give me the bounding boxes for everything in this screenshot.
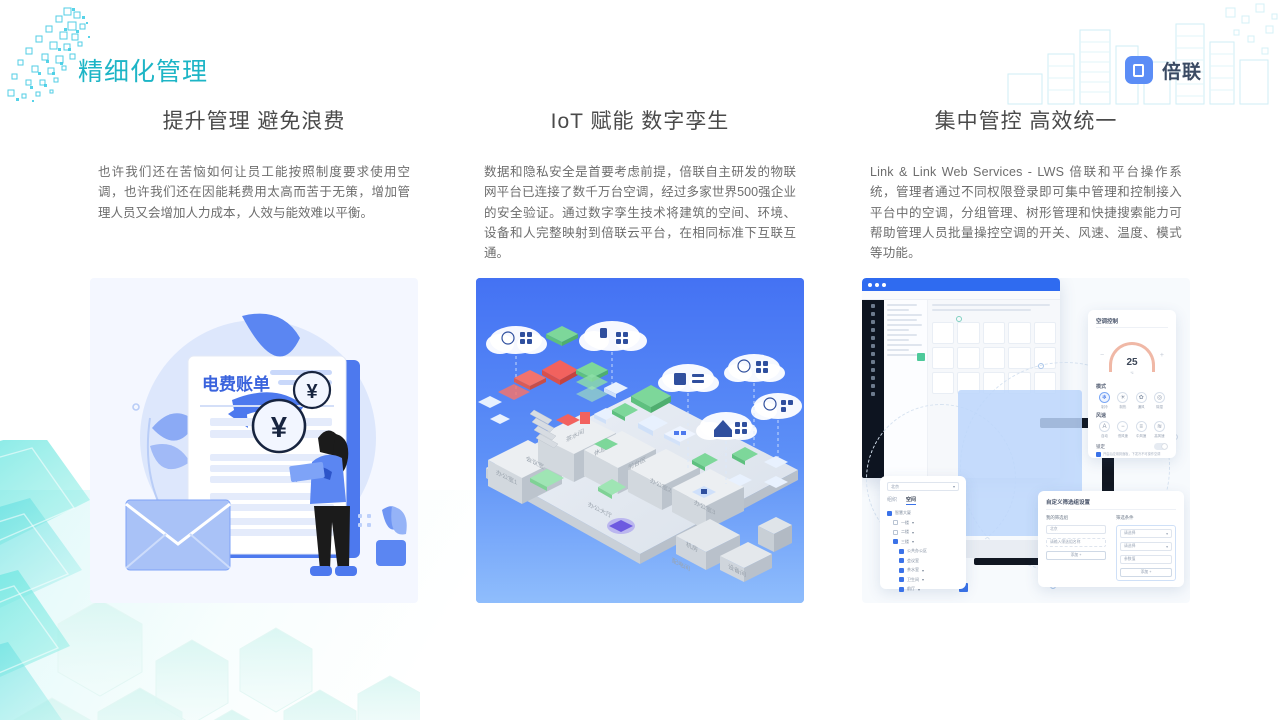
- envelope-icon: [126, 500, 230, 570]
- tree-item-label: 卫生间: [907, 577, 919, 583]
- mode-option-heat[interactable]: ☀ 制热: [1114, 392, 1131, 409]
- chevron-down-icon: ▾: [1166, 544, 1168, 549]
- browser-titlebar: [862, 278, 1060, 291]
- column-1: 提升管理 避免浪费 也许我们还在苦恼如何让员工能按照制度要求使用空调，也许我们还…: [90, 108, 418, 603]
- column-3-heading: 集中管控 高效统一: [862, 108, 1190, 162]
- column-2: IoT 赋能 数字孪生 数据和隐私安全是首要考虑前提，倍联自主研发的物联网平台已…: [476, 108, 804, 603]
- fan-low-icon: −: [1117, 421, 1128, 432]
- filter-dialog-title: 自定义筛选组设置: [1046, 498, 1176, 506]
- condition-field-select[interactable]: 请选择▾: [1120, 529, 1172, 538]
- device-card[interactable]: [957, 347, 979, 369]
- snowflake-icon: ❄: [1099, 392, 1110, 403]
- tree-item-label: 一楼: [901, 520, 909, 526]
- filter-group-name-input[interactable]: 请输入筛选组名称: [1046, 538, 1106, 547]
- fan-caption: 中风速: [1133, 433, 1150, 438]
- fan-caption: 自动: [1096, 433, 1113, 438]
- fan-high-icon: ≋: [1154, 421, 1165, 432]
- tree-item-label: 三楼: [901, 539, 909, 545]
- chevron-down-icon[interactable]: ▾: [918, 587, 920, 592]
- mode-caption: 除湿: [1151, 404, 1168, 409]
- tab-space[interactable]: 空间: [906, 496, 916, 505]
- mode-option-cool[interactable]: ❄ 制冷: [1096, 392, 1113, 409]
- tree-tabs[interactable]: 组织 空间: [887, 496, 959, 505]
- coin-currency-small: ¥: [306, 381, 318, 403]
- browser-toolbar[interactable]: [862, 291, 1060, 300]
- decor-dot: [956, 316, 962, 322]
- tree-item[interactable]: 公共办公区: [887, 548, 959, 554]
- column-1-heading: 提升管理 避免浪费: [90, 108, 418, 162]
- filter-conditions-header: 筛选条件: [1116, 515, 1176, 521]
- condition-operator-select[interactable]: 请选择▾: [1120, 542, 1172, 551]
- coin-currency-large: ¥: [271, 412, 287, 444]
- temp-decrease-button[interactable]: −: [1100, 352, 1104, 359]
- brand-mark-icon: [1125, 56, 1153, 84]
- window-dot: [868, 283, 872, 287]
- temperature-unit: ℃: [1130, 371, 1133, 375]
- fan-option-low[interactable]: − 低风速: [1114, 421, 1131, 438]
- chevron-down-icon[interactable]: ▾: [912, 530, 914, 535]
- decor-square: [917, 353, 925, 361]
- checkbox-icon[interactable]: [899, 549, 904, 554]
- chevron-down-icon: ▾: [1166, 531, 1168, 536]
- region-select[interactable]: 北京 ▾: [887, 482, 959, 491]
- device-card[interactable]: [983, 322, 1005, 344]
- checkbox-icon[interactable]: [893, 539, 898, 544]
- device-card[interactable]: [932, 372, 954, 394]
- column-1-body: 也许我们还在苦恼如何让员工能按照制度要求使用空调，也许我们还在因能耗费用太高而苦…: [90, 162, 418, 272]
- column-3-body: Link & Link Web Services - LWS 倍联和平台操作系统…: [862, 162, 1190, 272]
- filter-group-item[interactable]: 北京: [1046, 525, 1106, 534]
- column-3: 集中管控 高效统一 Link & Link Web Services - LWS…: [862, 108, 1190, 603]
- device-card[interactable]: [983, 347, 1005, 369]
- mode-option-fan[interactable]: ✿ 通风: [1133, 392, 1150, 409]
- window-dot: [875, 283, 879, 287]
- column-2-figure: 办公室1 会议室 茶水间 休息区 前台区 办公室2 办公室3 办公大厅 机房 配…: [476, 278, 804, 603]
- temperature-value: 25: [1126, 357, 1137, 368]
- tree-item[interactable]: 三楼▾: [887, 539, 959, 545]
- page-title: 精细化管理: [78, 52, 208, 88]
- column-1-figure: 电费账单: [90, 278, 418, 603]
- chevron-down-icon[interactable]: ▾: [922, 568, 924, 573]
- ac-panel-title: 空调控制: [1096, 317, 1168, 325]
- device-card[interactable]: [1008, 347, 1030, 369]
- tree-item-label: 茶水室: [907, 567, 919, 573]
- tree-item[interactable]: 前厅▾: [887, 586, 959, 592]
- mode-options[interactable]: ❄ 制冷 ☀ 制热 ✿ 通风 ◎ 除湿: [1096, 392, 1168, 409]
- fan-speed-options[interactable]: A 自动 − 低风速 ≡ 中风速 ≋ 高风速: [1096, 421, 1168, 438]
- mode-option-dry[interactable]: ◎ 除湿: [1151, 392, 1168, 409]
- temp-increase-button[interactable]: +: [1160, 352, 1164, 359]
- fan-caption: 高风速: [1151, 433, 1168, 438]
- mode-caption: 制冷: [1096, 404, 1113, 409]
- fan-option-auto[interactable]: A 自动: [1096, 421, 1113, 438]
- decor-dot: [1038, 363, 1044, 369]
- device-card[interactable]: [932, 347, 954, 369]
- content-columns: 提升管理 避免浪费 也许我们还在苦恼如何让员工能按照制度要求使用空调，也许我们还…: [0, 108, 1280, 603]
- tree-item[interactable]: 二楼▾: [887, 529, 959, 535]
- fan-medium-icon: ≡: [1136, 421, 1147, 432]
- add-condition-button[interactable]: 添加 +: [1120, 568, 1172, 577]
- add-filter-group-button[interactable]: 添加 +: [1046, 551, 1106, 560]
- chevron-down-icon[interactable]: ▾: [922, 577, 924, 582]
- device-card[interactable]: [1034, 322, 1056, 344]
- tree-item[interactable]: 一楼▾: [887, 520, 959, 526]
- slide-root: 精细化管理 倍联 提升管理 避免浪费 也许我们还在苦恼如何让员工能按照制度要求使…: [0, 0, 1280, 720]
- brand-name: 倍联: [1162, 57, 1202, 84]
- ac-control-panel[interactable]: 空调控制 − 25 ℃ + 模式 ❄ 制冷: [1088, 310, 1176, 458]
- device-card[interactable]: [957, 322, 979, 344]
- droplet-icon: ◎: [1154, 392, 1165, 403]
- lock-toggle[interactable]: [1154, 443, 1168, 450]
- filter-conditions-column: 筛选条件 请选择▾ 请选择▾ 参数值 添加 +: [1116, 515, 1176, 581]
- checkbox-icon[interactable]: [899, 558, 904, 563]
- column-2-body: 数据和隐私安全是首要考虑前提，倍联自主研发的物联网平台已连接了数千万台空调，经过…: [476, 162, 804, 272]
- window-dot: [882, 283, 886, 287]
- tree-item[interactable]: 卫生间▾: [887, 577, 959, 583]
- lock-note: 开启后应用到面板，下发冷不可操作空调: [1103, 452, 1160, 456]
- sun-icon: ☀: [1117, 392, 1128, 403]
- info-icon: [1096, 452, 1101, 457]
- fan-icon: ✿: [1136, 392, 1147, 403]
- brand-logo: 倍联: [1125, 56, 1202, 84]
- tree-item[interactable]: 智慧大厦: [887, 510, 959, 516]
- lock-label: 锁定: [1096, 444, 1105, 450]
- mode-section-label: 模式: [1096, 383, 1168, 390]
- device-card[interactable]: [1008, 322, 1030, 344]
- temperature-dial[interactable]: − 25 ℃ +: [1096, 334, 1168, 380]
- bill-title-text: 电费账单: [202, 374, 270, 394]
- chevron-down-icon[interactable]: ▾: [912, 520, 914, 525]
- column-3-figure: 空调控制 − 25 ℃ + 模式 ❄ 制冷: [862, 278, 1190, 603]
- tab-organization[interactable]: 组织: [887, 496, 897, 505]
- custom-filter-dialog[interactable]: 自定义筛选组设置 我的筛选组 北京 请输入筛选组名称 添加 + 筛选条件 请: [1038, 491, 1184, 587]
- region-select-value: 北京: [891, 484, 899, 490]
- checkbox-icon[interactable]: [899, 587, 904, 592]
- tree-item-label: 二楼: [901, 529, 909, 535]
- plant-icon: [376, 506, 407, 566]
- tree-item[interactable]: 茶水室▾: [887, 567, 959, 573]
- fan-option-medium[interactable]: ≡ 中风速: [1133, 421, 1150, 438]
- column-2-heading: IoT 赋能 数字孪生: [476, 108, 804, 162]
- chevron-down-icon: ▾: [953, 484, 955, 489]
- my-filter-groups-column: 我的筛选组 北京 请输入筛选组名称 添加 +: [1046, 515, 1106, 581]
- condition-value-input[interactable]: 参数值: [1120, 555, 1172, 564]
- checkbox-icon[interactable]: [887, 511, 892, 516]
- mode-caption: 制热: [1114, 404, 1131, 409]
- tree-item-label: 会议室: [907, 558, 919, 564]
- tree-item-label: 公共办公区: [907, 548, 927, 554]
- space-selector-panel[interactable]: 北京 ▾ 组织 空间 智慧大厦 一楼▾ 二楼▾ 三楼▾ 公共办公区 会议室 茶水…: [880, 476, 966, 589]
- my-filter-groups-header: 我的筛选组: [1046, 515, 1106, 521]
- fan-option-high[interactable]: ≋ 高风速: [1151, 421, 1168, 438]
- tree-item[interactable]: 会议室: [887, 558, 959, 564]
- checkbox-icon[interactable]: [899, 577, 904, 582]
- auto-icon: A: [1099, 421, 1110, 432]
- fan-section-label: 风速: [1096, 412, 1168, 419]
- checkbox-icon[interactable]: [893, 530, 898, 535]
- checkbox-icon[interactable]: [899, 568, 904, 573]
- tree-item-label: 智慧大厦: [895, 510, 911, 516]
- chevron-down-icon[interactable]: ▾: [912, 539, 914, 544]
- fan-caption: 低风速: [1114, 433, 1131, 438]
- tree-item-label: 前厅: [907, 586, 915, 592]
- device-card[interactable]: [932, 322, 954, 344]
- checkbox-icon[interactable]: [893, 520, 898, 525]
- mode-caption: 通风: [1133, 404, 1150, 409]
